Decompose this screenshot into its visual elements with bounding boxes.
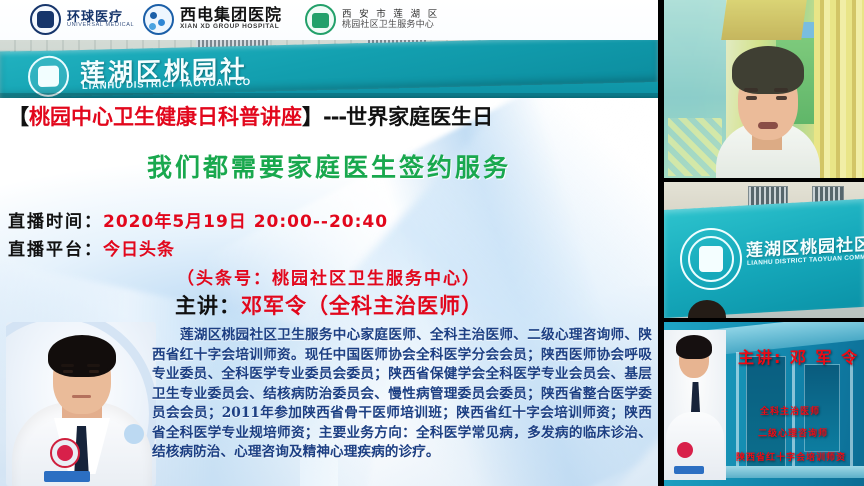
- exterior-railing-3: [850, 352, 853, 472]
- clinic-emblem-icon: [28, 55, 69, 97]
- host-label: 主讲：: [175, 294, 241, 318]
- portrait-eye-right: [89, 370, 99, 373]
- inset-necktie: [691, 382, 700, 412]
- banner-signboard: 莲湖区桃园社 LIANHU DISTRICT TAOYUAN CO: [0, 40, 658, 98]
- live-platform-value: 今日头条: [103, 240, 175, 260]
- overlay-credential-1: 全科主治医师: [760, 404, 820, 417]
- logo-universal-medical-cn: 环球医疗: [67, 10, 134, 24]
- portrait-eyebrow-left: [61, 364, 74, 367]
- portrait-name-tag: [44, 471, 90, 482]
- portrait-eyebrow-right: [87, 364, 100, 367]
- live-platform-row: 直播平台：今日头条: [8, 235, 175, 260]
- slide-title: 【桃园中心卫生健康日科普讲座】---世界家庭医生日: [8, 101, 648, 131]
- overlay-credential-3: 陕西省红十字会培训师资: [736, 450, 846, 463]
- live-time-value: 2020年5月19日 20:00--20:40: [103, 212, 388, 232]
- logo-xd-group-hospital-en: XIAN XD GROUP HOSPITAL: [180, 24, 282, 31]
- doctor-portrait-photo: [6, 322, 156, 486]
- screen: 环球医疗 UNIVERSAL MEDICAL 西电集团医院 XIAN XD GR…: [0, 0, 864, 486]
- sign-emblem-icon: [680, 228, 742, 290]
- overlay-credential-2: 二级心理咨询师: [758, 426, 828, 439]
- logo-universal-medical-en: UNIVERSAL MEDICAL: [67, 23, 134, 29]
- presenter-webcam-feed[interactable]: [664, 0, 864, 178]
- live-time-row: 直播时间：2020年5月19日 20:00--20:40: [8, 207, 388, 232]
- webcam-overexposure-haze: [664, 0, 864, 178]
- logo-taoyuan-center-sub: 桃园社区卫生服务中心: [342, 20, 440, 29]
- logo-taoyuan-center: 西 安 市 莲 湖 区 桃园社区卫生服务中心: [305, 4, 440, 35]
- portrait-hospital-badge-icon: [50, 438, 80, 468]
- doctor-inset-photo: [664, 330, 726, 480]
- clinic-exterior-feed[interactable]: 主讲: 邓 军 令 全科主治医师 二级心理咨询师 陕西省红十字会培训师资: [664, 322, 864, 486]
- xd-group-hospital-logo-icon: [143, 4, 174, 35]
- slide-subtitle: 我们都需要家庭医生签约服务: [0, 148, 658, 184]
- video-rail: 莲湖区桃园社区卫生服务中心 LIANHU DISTRICT TAOYUAN CO…: [658, 0, 864, 486]
- banner-bottom-edge: [0, 93, 658, 98]
- portrait-shoulder-logo-icon: [124, 424, 144, 444]
- overlay-host-name: 主讲: 邓 军 令: [738, 344, 859, 368]
- presenter-biography: 莲湖区桃园社区卫生服务中心家庭医师、全科主治医师、二级心理咨询师、陕西省红十字会…: [152, 326, 652, 463]
- logo-xd-group-hospital: 西电集团医院 XIAN XD GROUP HOSPITAL: [143, 4, 282, 35]
- logo-xd-group-hospital-cn: 西电集团医院: [180, 8, 282, 25]
- title-dash: ---: [323, 105, 346, 129]
- clinic-sign-photo-banner: 莲湖区桃园社 LIANHU DISTRICT TAOYUAN CO: [0, 40, 658, 98]
- title-bracket-close: 】: [302, 105, 323, 129]
- inset-name-tag: [674, 466, 704, 474]
- portrait-hair: [48, 335, 116, 377]
- rail-divider-bottom: [658, 318, 864, 322]
- rail-divider-top: [658, 178, 864, 182]
- live-platform-label: 直播平台：: [8, 240, 103, 260]
- inset-badge-icon: [677, 442, 693, 458]
- host-value: 邓军令（全科主治医师）: [241, 294, 483, 318]
- clinic-sign-closeup-feed[interactable]: 莲湖区桃园社区卫生服务中心 LIANHU DISTRICT TAOYUAN CO…: [664, 182, 864, 318]
- universal-medical-logo-icon: [30, 4, 61, 35]
- host-row: 主讲：邓军令（全科主治医师）: [0, 290, 658, 320]
- title-black-text: 世界家庭医生日: [346, 105, 493, 129]
- title-red-text: 桃园中心卫生健康日科普讲座: [29, 105, 302, 129]
- toutiao-account-line: （头条号：桃园社区卫生服务中心）: [0, 264, 658, 289]
- inset-hair: [676, 335, 712, 359]
- sponsor-logo-bar: 环球医疗 UNIVERSAL MEDICAL 西电集团医院 XIAN XD GR…: [0, 0, 658, 40]
- title-bracket-open: 【: [8, 105, 29, 129]
- portrait-eye-left: [63, 370, 73, 373]
- presentation-slide: 环球医疗 UNIVERSAL MEDICAL 西电集团医院 XIAN XD GR…: [0, 0, 658, 486]
- live-time-label: 直播时间：: [8, 212, 103, 232]
- portrait-mouth: [72, 395, 91, 398]
- rail-left-gutter: [658, 0, 664, 486]
- logo-universal-medical: 环球医疗 UNIVERSAL MEDICAL: [30, 4, 134, 35]
- taoyuan-center-logo-icon: [305, 4, 336, 35]
